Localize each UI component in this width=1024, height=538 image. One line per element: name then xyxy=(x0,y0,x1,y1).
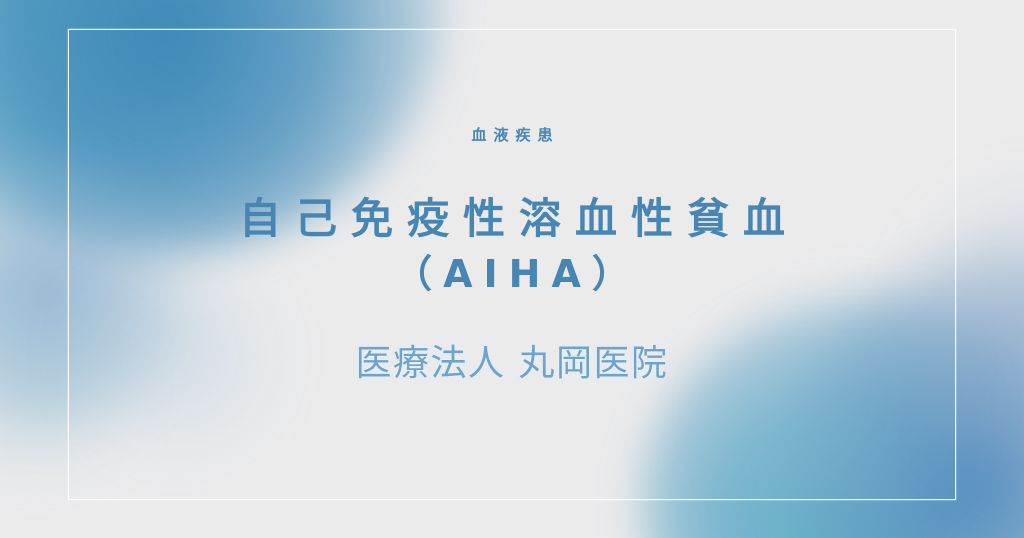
organization-name: 医療法人 丸岡医院 xyxy=(356,342,669,385)
page-title-abbreviation: （AIHA） xyxy=(225,251,799,299)
slide-content: 血液疾患 自己免疫性溶血性貧血 （AIHA） 医療法人 丸岡医院 xyxy=(0,0,1024,538)
title-slide: 血液疾患 自己免疫性溶血性貧血 （AIHA） 医療法人 丸岡医院 xyxy=(0,0,1024,538)
category-label: 血液疾患 xyxy=(464,128,559,143)
title-block: 自己免疫性溶血性貧血 （AIHA） xyxy=(225,192,799,298)
page-title: 自己免疫性溶血性貧血 xyxy=(225,192,799,247)
